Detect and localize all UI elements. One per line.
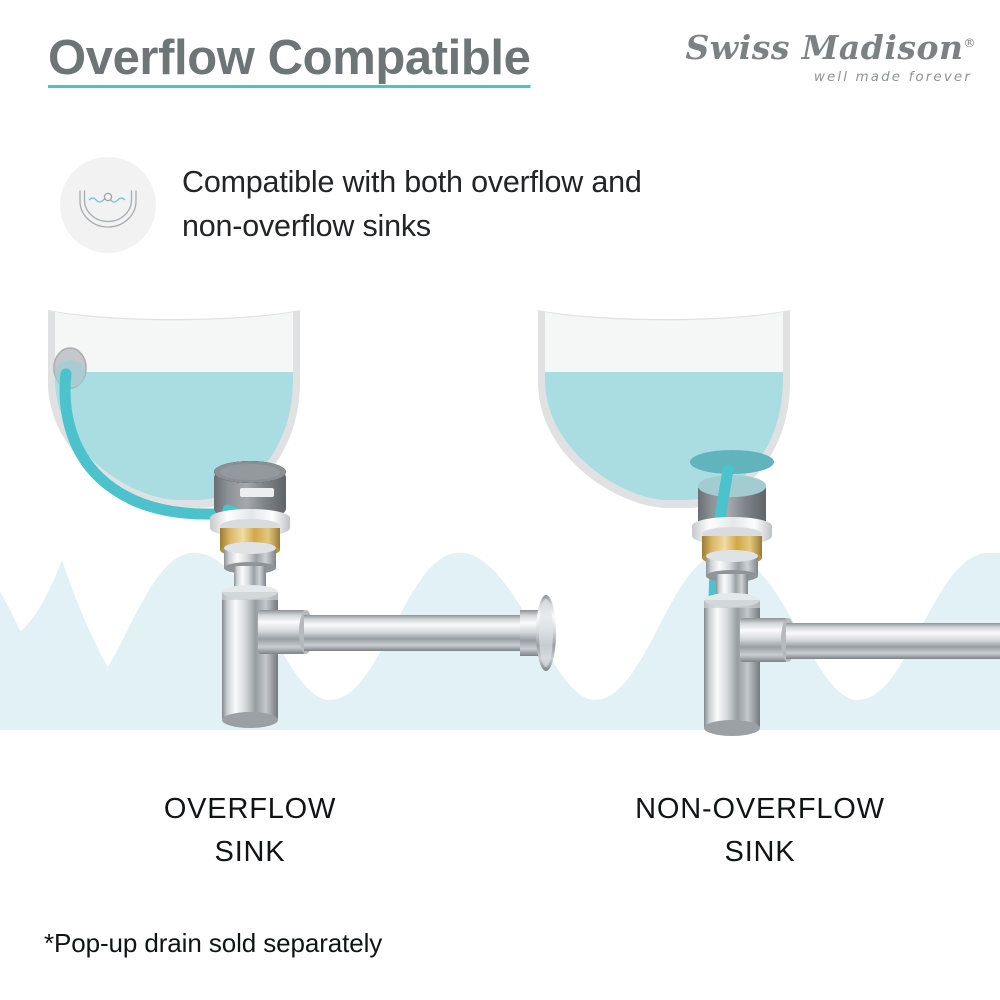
caption-non-overflow-sink: NON-OVERFLOW SINK — [560, 788, 960, 874]
drain-cap-slot — [240, 488, 274, 497]
brand-logo-wordmark: Swiss Madison® — [685, 28, 976, 67]
caption-overflow-sink-line2: SINK — [60, 831, 440, 874]
footnote: *Pop-up drain sold separately — [44, 928, 382, 959]
non-overflow-sink-illustration — [538, 310, 1000, 736]
header: Overflow Compatible Swiss Madison® well … — [0, 0, 1000, 120]
bottle-trap-body — [704, 593, 760, 736]
brand-logo: Swiss Madison® well made forever — [676, 28, 976, 90]
pop-up-drain-cap-open — [698, 475, 766, 524]
trap-outlet-pipe — [304, 615, 528, 651]
caption-overflow-sink-line1: OVERFLOW — [60, 788, 440, 831]
overflow-sink-illustration — [48, 310, 556, 728]
page-title: Overflow Compatible — [48, 28, 530, 88]
bottle-trap-body — [222, 585, 278, 728]
feature-callout: Compatible with both overflow and non-ov… — [56, 152, 696, 262]
wall-flange — [520, 595, 556, 671]
caption-non-overflow-sink-line2: SINK — [560, 831, 960, 874]
infographic-page: Overflow Compatible Swiss Madison® well … — [0, 0, 1000, 1000]
brand-tagline: well made forever — [814, 69, 972, 85]
brand-name: Swiss Madison — [685, 28, 963, 67]
sink-comparison-diagram — [0, 270, 1000, 760]
overflow-sink-icon — [60, 157, 156, 253]
feature-text: Compatible with both overflow and non-ov… — [182, 160, 702, 248]
caption-overflow-sink: OVERFLOW SINK — [60, 788, 440, 874]
registered-trademark-icon: ® — [964, 36, 977, 50]
trap-outlet-pipe — [786, 623, 1000, 659]
caption-non-overflow-sink-line1: NON-OVERFLOW — [560, 788, 960, 831]
